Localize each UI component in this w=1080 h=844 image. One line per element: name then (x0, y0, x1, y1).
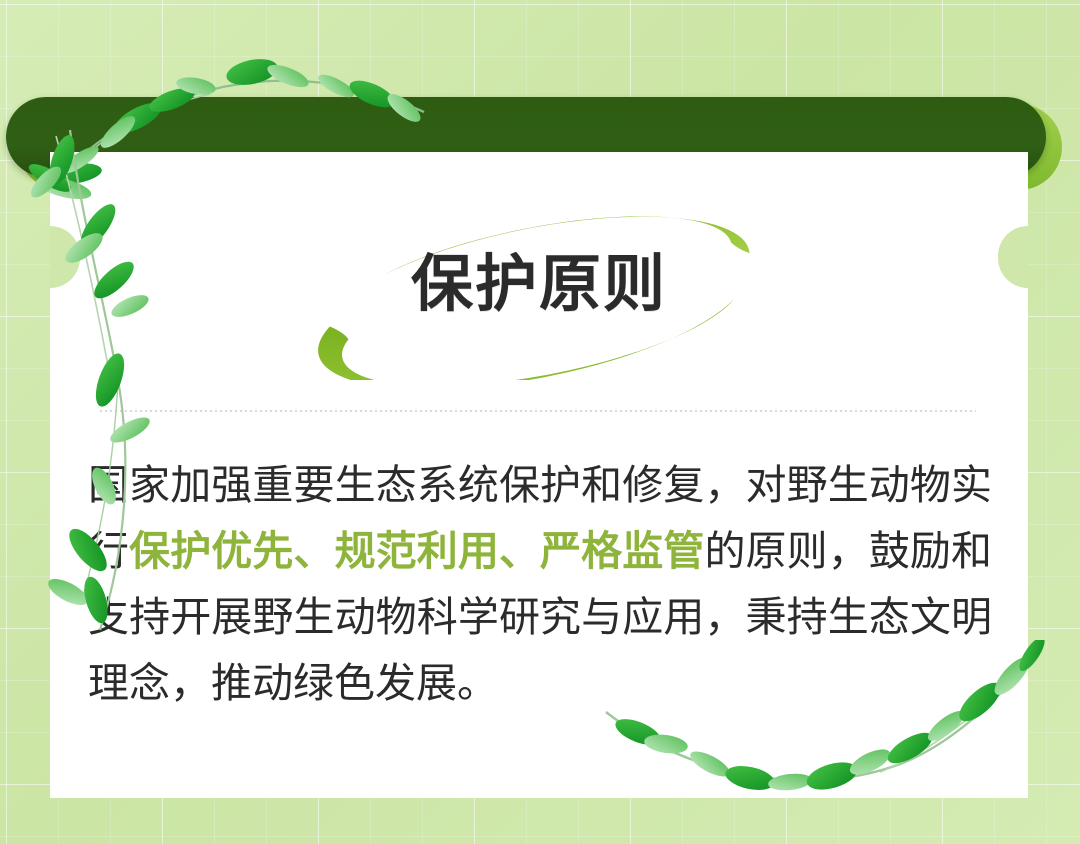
title-block: 保护原则 (50, 200, 1028, 380)
body-highlight: 保护优先、规范利用、严格监管 (129, 528, 704, 574)
divider (100, 410, 976, 412)
page-title: 保护原则 (50, 242, 1028, 328)
poster-root: 保护原则 国家加强重要生态系统保护和修复，对野生动物实行保护优先、规范利用、严格… (0, 0, 1080, 844)
body-paragraph: 国家加强重要生态系统保护和修复，对野生动物实行保护优先、规范利用、严格监管的原则… (88, 452, 992, 716)
